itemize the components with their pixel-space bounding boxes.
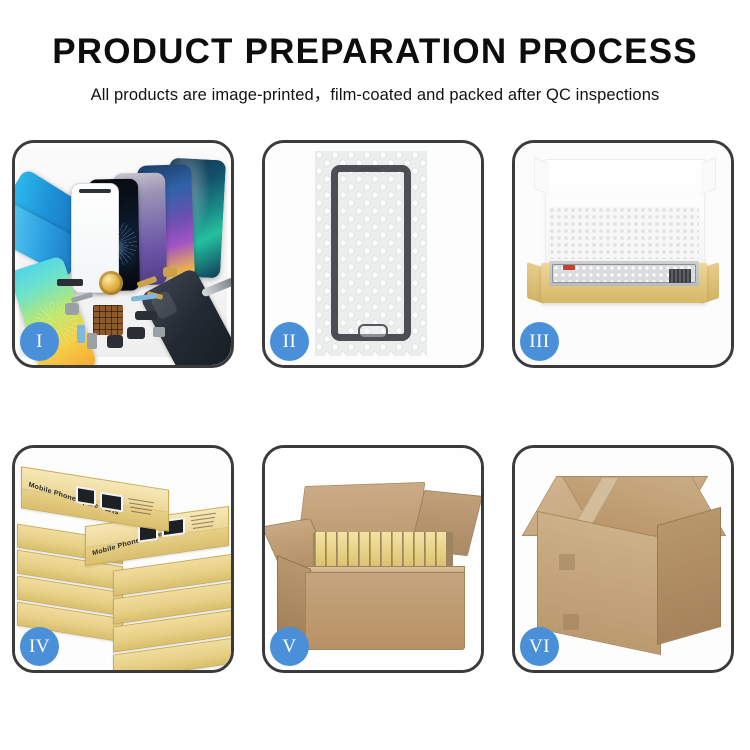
qc-red-mark [563, 265, 575, 270]
camera-module-part [65, 303, 79, 315]
step-panel-2: II [262, 140, 484, 368]
screw-set-part [153, 327, 165, 337]
vibrator-motor-part [127, 327, 145, 339]
page-title: PRODUCT PREPARATION PROCESS [0, 34, 750, 71]
speaker-box-part [107, 335, 123, 348]
connector-chip-part [93, 305, 123, 335]
step-panel-3: III [512, 140, 734, 368]
foam-padding [549, 207, 699, 259]
step-panel-1: I [12, 140, 234, 368]
printed-box-1: Mobile Phone Spare Parts [21, 466, 169, 531]
box-inner-tray [549, 261, 699, 286]
step-panel-6: VI [512, 445, 734, 673]
step-badge-5: V [270, 627, 309, 666]
earpiece-mesh-part [57, 279, 83, 286]
box-art-screen-1a [76, 486, 96, 506]
bubble-wrap-photo [315, 151, 427, 356]
step-panel-4: Mobile Phone Spare Parts Mobile Phone Sp… [12, 445, 234, 673]
box-spec-line-1d [131, 511, 151, 516]
sealed-carton-side [657, 507, 721, 645]
step-panel-5: V [262, 445, 484, 673]
speaker-coil-part [99, 271, 123, 295]
step-badge-2: II [270, 322, 309, 361]
carton-front-panel [305, 572, 465, 650]
small-flex-part [77, 325, 85, 343]
box-art-screen-1b [100, 492, 123, 513]
step-badge-4: IV [20, 627, 59, 666]
sim-tray-part [87, 333, 97, 349]
carton-handle-cut-top [559, 554, 575, 570]
sealed-carton-front [537, 511, 661, 655]
step-badge-3: III [520, 322, 559, 361]
gold-contact-part [163, 267, 177, 277]
process-steps-grid: I II III [12, 140, 738, 673]
step-badge-6: VI [520, 627, 559, 666]
page-subtitle: All products are image-printed，film-coat… [0, 81, 750, 105]
carton-handle-cut-bottom [563, 614, 579, 630]
page-header: PRODUCT PREPARATION PROCESS All products… [0, 0, 750, 105]
battery-connector-part [135, 311, 157, 320]
wrapped-screen-outline [331, 165, 411, 341]
step-badge-1: I [20, 322, 59, 361]
